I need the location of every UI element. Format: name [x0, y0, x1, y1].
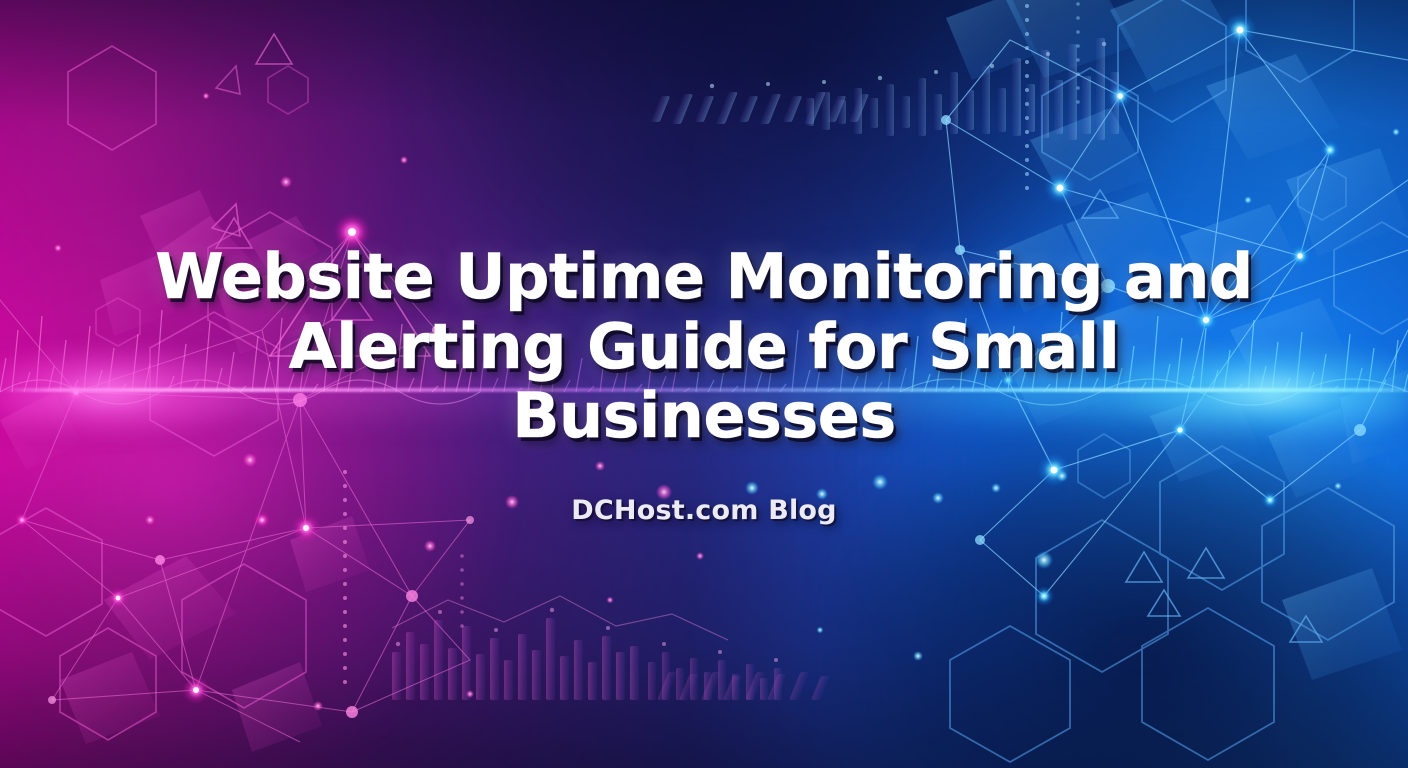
hero-content: Website Uptime Monitoring and Alerting G… [0, 0, 1408, 768]
hero-banner: Website Uptime Monitoring and Alerting G… [0, 0, 1408, 768]
blog-subtitle: DCHost.com Blog [571, 495, 836, 526]
page-title: Website Uptime Monitoring and Alerting G… [74, 242, 1334, 450]
